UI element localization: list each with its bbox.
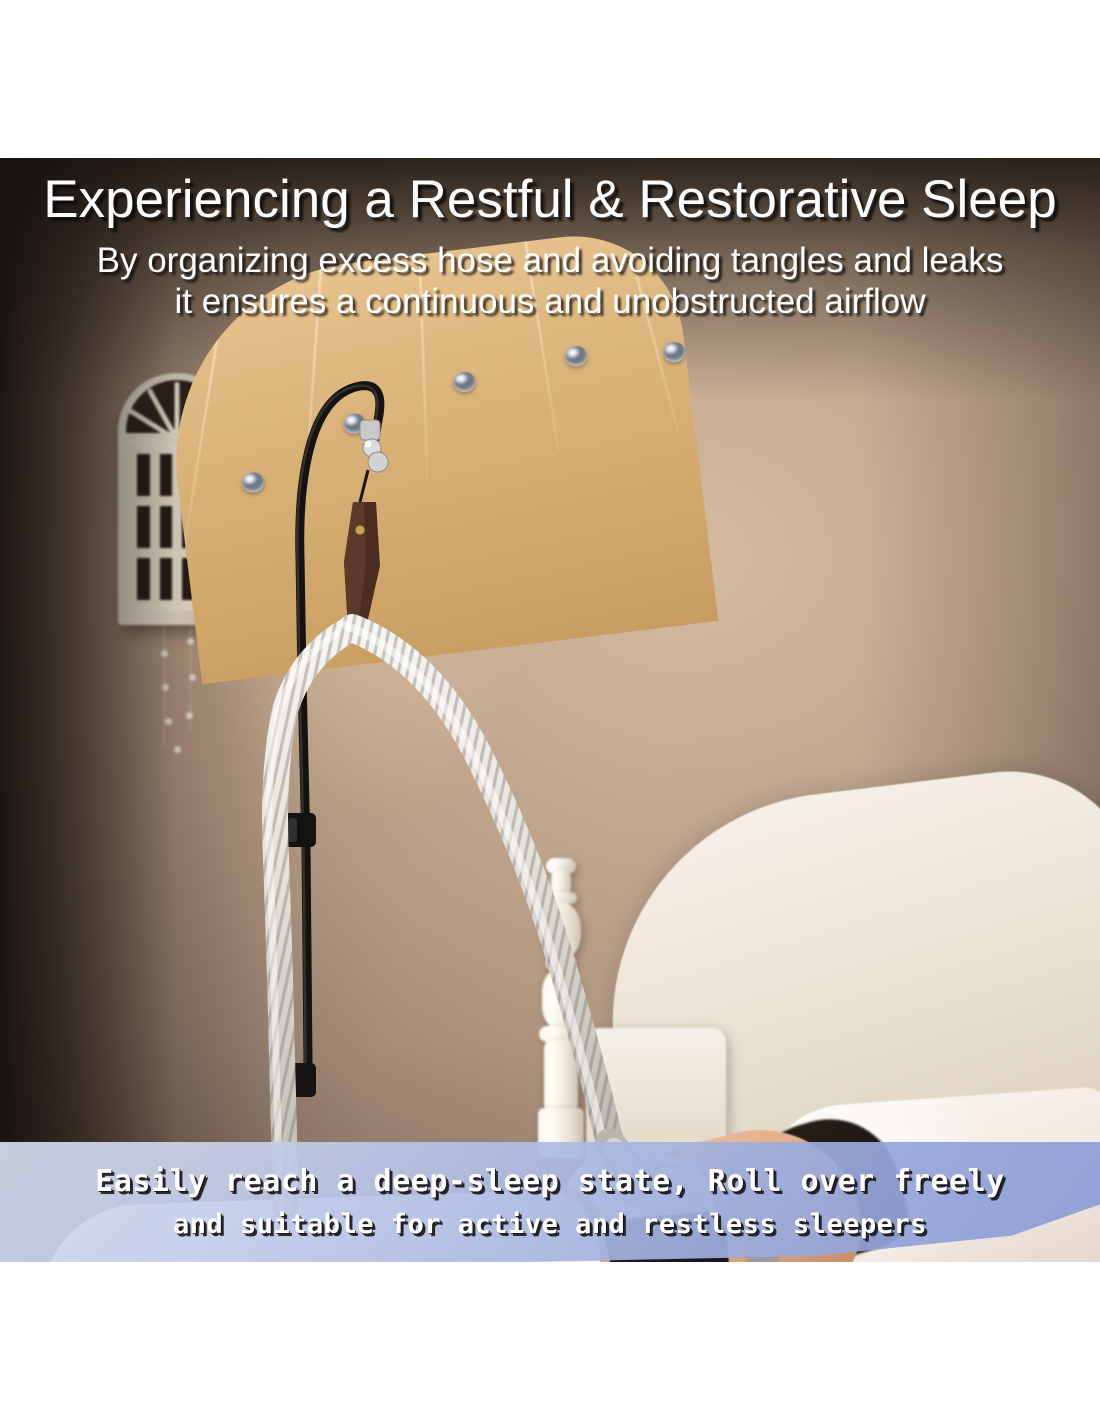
headline-subtitle: By organizing excess hose and avoiding t…	[97, 240, 1004, 323]
headline-block: Experiencing a Restful & Restorative Sle…	[0, 172, 1100, 322]
headline-subtitle-line-2: it ensures a continuous and unobstructed…	[97, 281, 1004, 322]
cpap-hose-icon	[0, 158, 1100, 1262]
caption-line-2: and suitable for active and restless sle…	[173, 1209, 927, 1240]
caption-line-1: Easily reach a deep-sleep state, Roll ov…	[95, 1164, 1005, 1199]
page-title: Experiencing a Restful & Restorative Sle…	[43, 172, 1056, 228]
headline-subtitle-line-1: By organizing excess hose and avoiding t…	[97, 240, 1004, 281]
product-image-card: Easily reach a deep-sleep state, Roll ov…	[0, 0, 1100, 1422]
lifestyle-photo: Easily reach a deep-sleep state, Roll ov…	[0, 158, 1100, 1262]
caption-band-text: Easily reach a deep-sleep state, Roll ov…	[0, 1142, 1100, 1262]
